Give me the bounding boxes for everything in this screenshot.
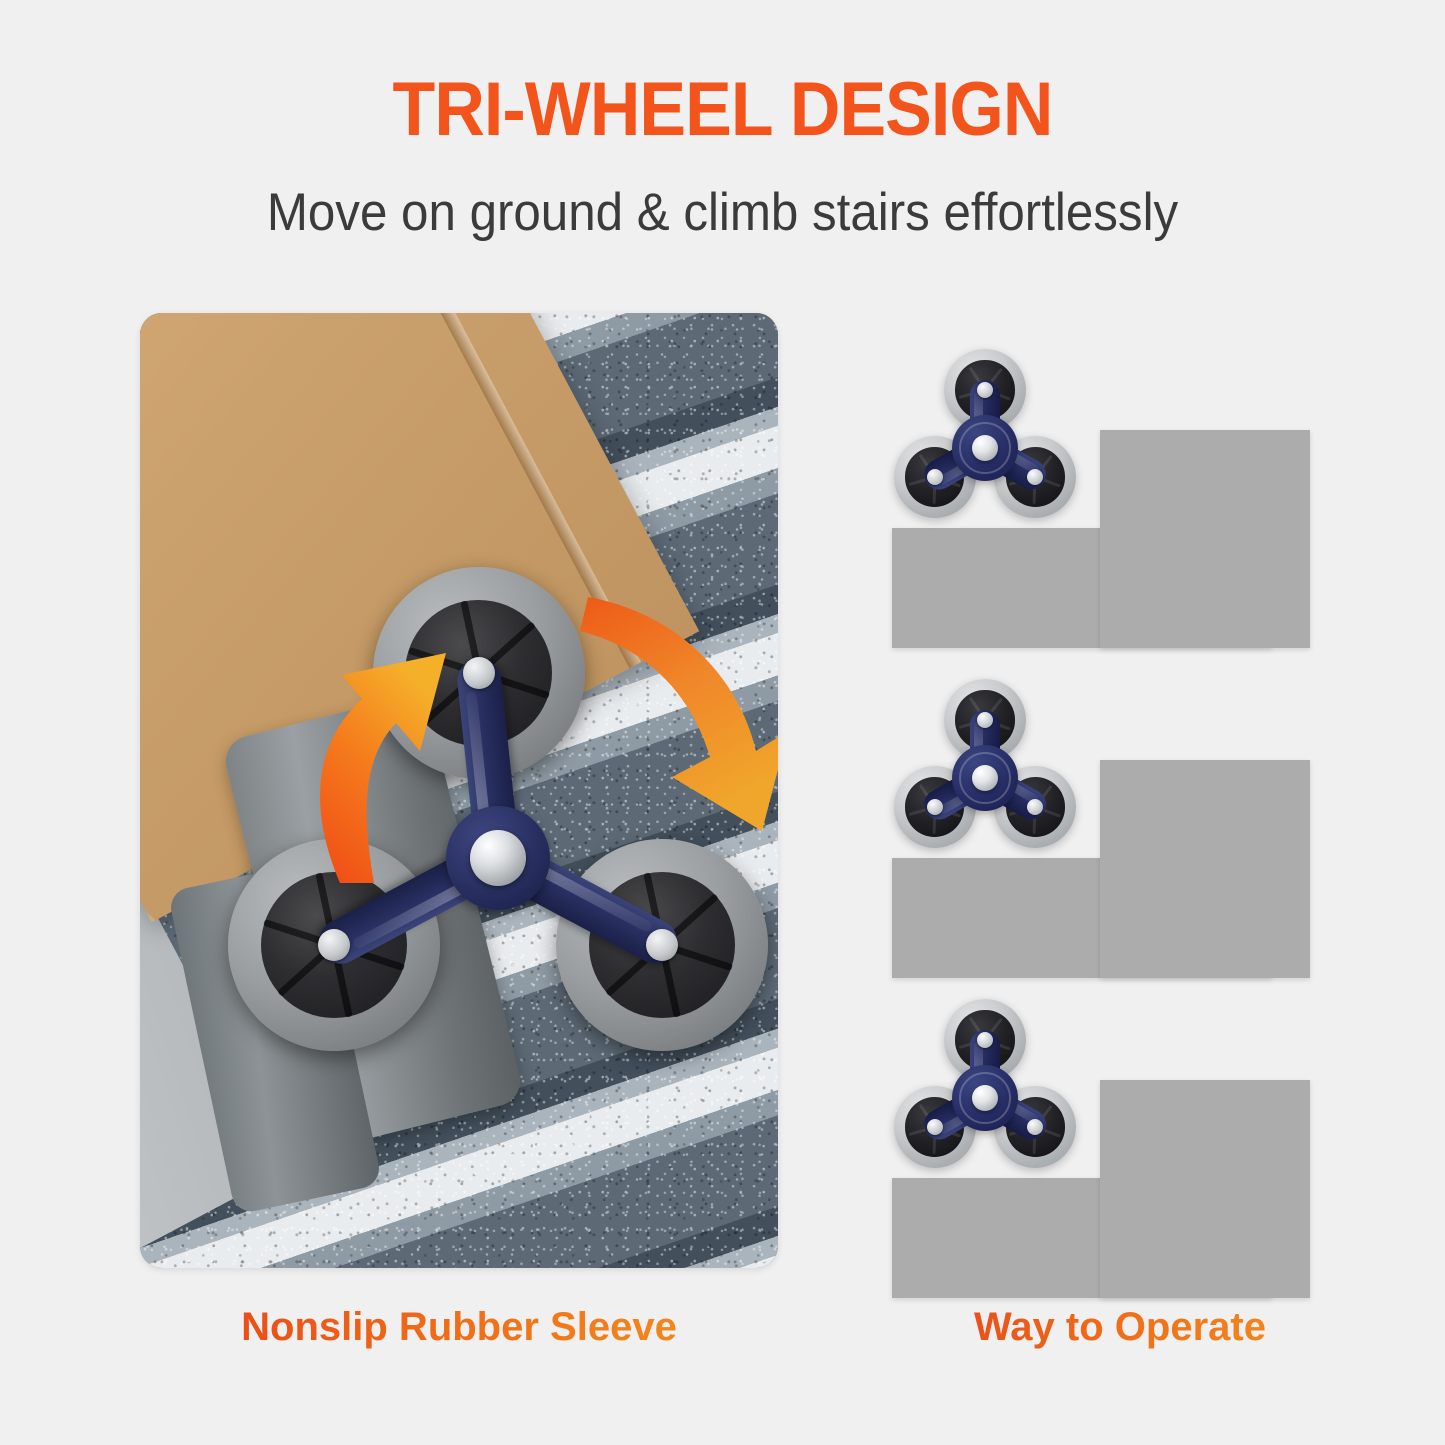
axle-bolt [927, 469, 943, 485]
operate-step-2 [870, 648, 1330, 968]
chrome-center-pin [972, 765, 998, 791]
infographic-root: TRI-WHEEL DESIGN Move on ground & climb … [0, 0, 1445, 1445]
chrome-center-pin [972, 1085, 998, 1111]
axle-bolt [977, 712, 993, 728]
chrome-center-pin [972, 435, 998, 461]
axle-bolt [977, 1032, 993, 1048]
operate-step-1 [870, 318, 1330, 638]
step-upper-riser [1100, 760, 1310, 978]
operate-step-3 [870, 968, 1330, 1288]
axle-bolt [927, 1119, 943, 1135]
axle-bolt [977, 382, 993, 398]
caption-right: Way to Operate [890, 1305, 1350, 1350]
caption-left: Nonslip Rubber Sleeve [140, 1305, 778, 1350]
axle-bolt [927, 799, 943, 815]
way-to-operate-diagrams [0, 0, 1445, 1445]
step-upper-riser [1100, 430, 1310, 648]
step-upper-riser [1100, 1080, 1310, 1298]
